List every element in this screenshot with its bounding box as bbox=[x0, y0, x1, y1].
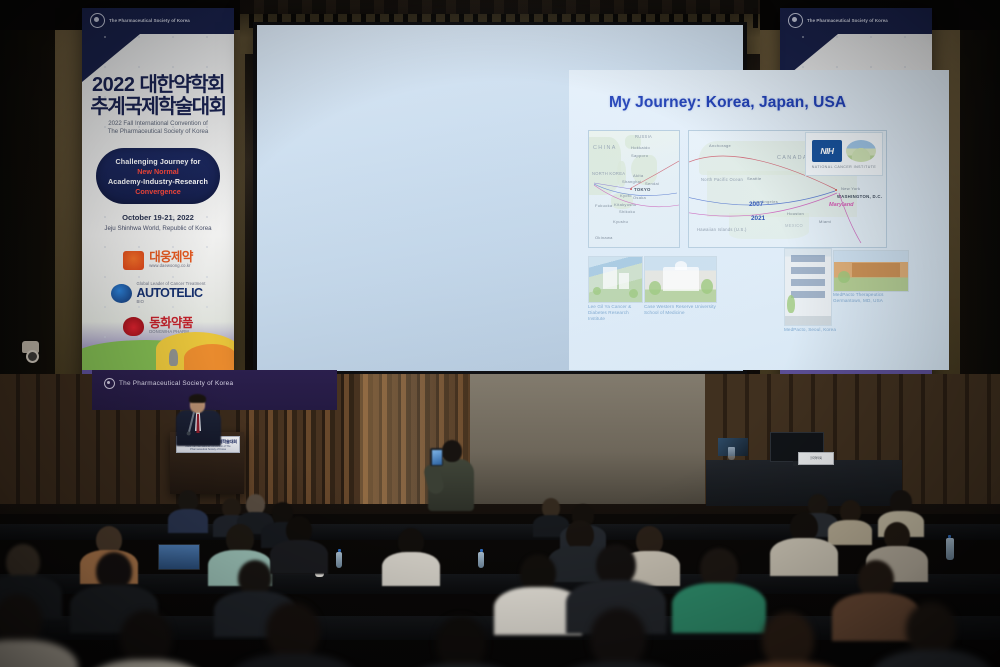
banner-title-kr-1: 대한약학회 bbox=[140, 74, 225, 96]
theme-line-2: New Normal bbox=[137, 167, 179, 176]
conference-photo-scene: The Pharmaceutical Society of Korea 2022… bbox=[0, 0, 1000, 667]
lee-gil-ya-caption: Lee Gil Ya Cancer & Diabetes Research In… bbox=[588, 304, 642, 323]
theme-line-4: Convergence bbox=[135, 187, 181, 196]
nih-logo-text: NIH bbox=[820, 146, 833, 156]
banner-subtitle-1: 2022 Fall International Convention of bbox=[108, 120, 208, 127]
presentation-slide: My Journey: Korea, Japan, USA CHINA NORT… bbox=[569, 70, 949, 370]
asia-map: CHINA NORTH KOREA RUSSIA Hokkaido Sappor… bbox=[588, 130, 680, 248]
stage-fabric-panel bbox=[470, 374, 705, 504]
banner-topbar: The Pharmaceutical Society of Korea bbox=[82, 8, 234, 34]
banner-date: October 19-21, 2022 bbox=[82, 213, 234, 222]
sponsor-daewoong: 대웅제약 www.daewoong.co.kr bbox=[123, 248, 193, 272]
banner-year: 2022 bbox=[92, 74, 135, 96]
audience-seating bbox=[0, 490, 1000, 667]
sponsor-autotelic: Global Leader of Cancer Treatment AUTOTE… bbox=[111, 281, 206, 305]
lee-gil-ya-institute-photo bbox=[588, 256, 643, 303]
asia-route-lines bbox=[589, 131, 679, 247]
water-glass bbox=[728, 447, 735, 460]
av-placard-text: 한국약학회 bbox=[799, 456, 833, 460]
case-western-reserve-photo bbox=[644, 256, 717, 303]
phone-camera-icon bbox=[430, 448, 443, 466]
nih-nci-logo-box: NIH NATIONAL CANCER INSTITUTE bbox=[805, 132, 883, 176]
backdrop-seal-icon bbox=[104, 378, 115, 389]
medpacto-seoul-photo bbox=[784, 248, 832, 326]
dolhareubang-icon bbox=[169, 349, 178, 366]
medpacto-germantown-photo bbox=[833, 250, 909, 292]
security-camera-icon bbox=[22, 341, 39, 353]
backdrop-text-row: The Pharmaceutical Society of Korea bbox=[104, 378, 233, 389]
speaker-backdrop bbox=[92, 370, 337, 410]
medpacto-seoul-caption: MedPacto, Seoul, Korea bbox=[784, 327, 844, 333]
autotelic-logo-icon bbox=[111, 284, 132, 303]
banner-title: 2022 대한약학회 추계국제학술대회 bbox=[82, 74, 234, 118]
banner-theme-pill: Challenging Journey for New Normal Acade… bbox=[96, 148, 220, 204]
autotelic-name: AUTOTELIC bbox=[137, 287, 206, 300]
medpacto-germantown-caption: MedPacto Therapeutics Germantown, MD, US… bbox=[833, 292, 907, 304]
nih-logo-icon: NIH bbox=[812, 140, 842, 162]
theme-line-1: Challenging Journey for bbox=[116, 157, 201, 166]
water-bottle-1 bbox=[336, 552, 342, 568]
daewoong-url: www.daewoong.co.kr bbox=[149, 264, 193, 269]
psk-seal-icon bbox=[90, 13, 105, 28]
psk-seal-icon-right bbox=[788, 13, 803, 28]
banner-location: Jeju Shinhwa World, Republic of Korea bbox=[82, 225, 234, 232]
slide-title: My Journey: Korea, Japan, USA bbox=[609, 94, 846, 112]
av-name-placard: 한국약학회 bbox=[798, 452, 834, 465]
attendee-laptop-1 bbox=[158, 544, 200, 570]
speaker-hair bbox=[189, 394, 206, 403]
seat-row-middle bbox=[0, 574, 1000, 594]
banner-topbar-right: The Pharmaceutical Society of Korea bbox=[780, 8, 932, 34]
water-bottle-2 bbox=[478, 552, 484, 568]
banner-jeju-illustration bbox=[82, 324, 234, 370]
banner-subtitle: 2022 Fall International Convention of Th… bbox=[90, 120, 226, 137]
banner-title-kr-2: 추계국제학술대회 bbox=[90, 96, 225, 118]
daewoong-logo-icon bbox=[123, 251, 144, 270]
left-event-banner: The Pharmaceutical Society of Korea 2022… bbox=[82, 8, 234, 400]
nci-caption: NATIONAL CANCER INSTITUTE bbox=[812, 165, 877, 169]
banner-subtitle-2: The Pharmaceutical Society of Korea bbox=[108, 128, 209, 135]
nci-campus-photo bbox=[846, 140, 876, 162]
autotelic-sub: BIO bbox=[137, 300, 206, 305]
banner-org-name-right: The Pharmaceutical Society of Korea bbox=[807, 18, 888, 23]
case-western-caption: Case Western Reserve University School o… bbox=[644, 304, 716, 316]
backdrop-text: The Pharmaceutical Society of Korea bbox=[119, 380, 233, 387]
water-bottle-3 bbox=[946, 538, 954, 560]
theme-line-3: Academy-Industry-Research bbox=[108, 177, 208, 186]
projection-screen: My Journey: Korea, Japan, USA CHINA NORT… bbox=[257, 25, 743, 371]
banner-org-name: The Pharmaceutical Society of Korea bbox=[109, 18, 190, 23]
